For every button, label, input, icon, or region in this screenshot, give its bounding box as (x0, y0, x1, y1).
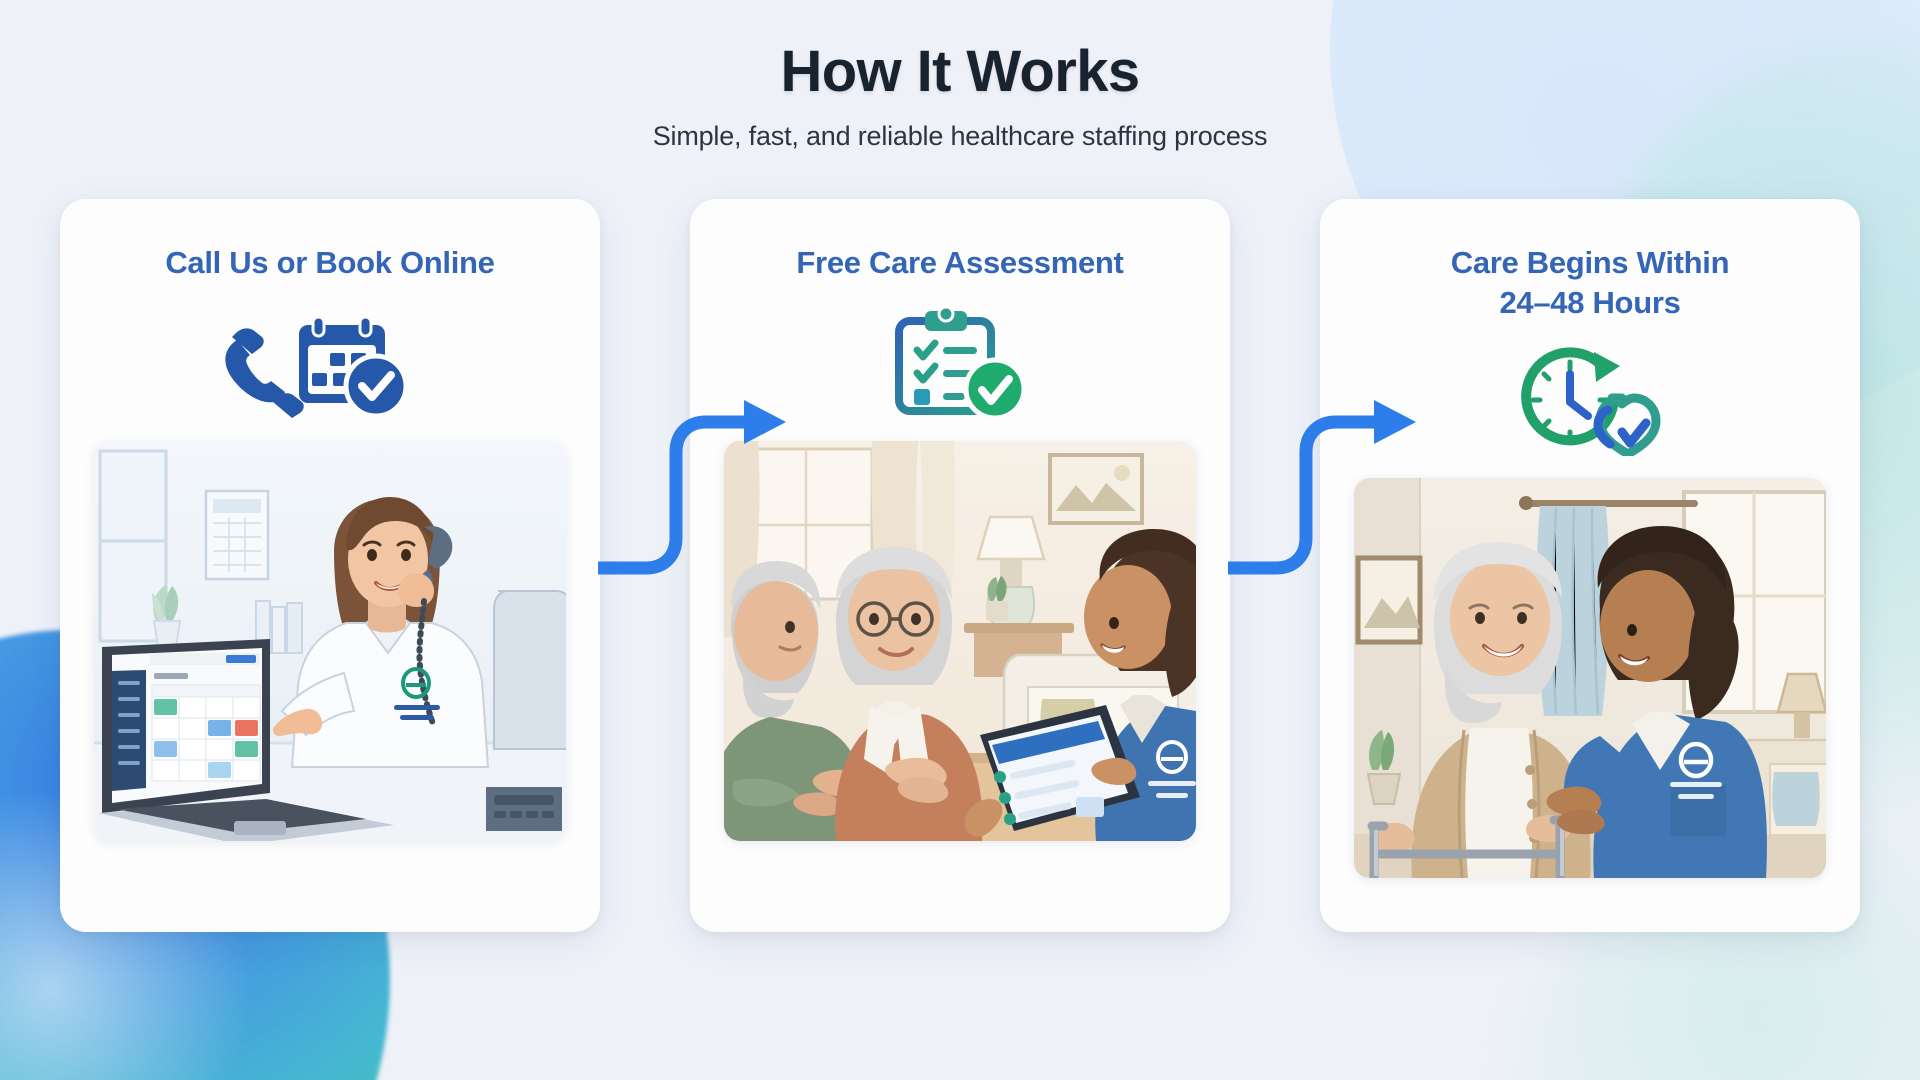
step-3-title-line-1: Care Begins Within (1451, 245, 1730, 280)
page-subtitle: Simple, fast, and reliable healthcare st… (0, 121, 1920, 152)
steps-row: Call Us or Book Online (0, 199, 1920, 932)
page-title: How It Works (0, 42, 1920, 103)
phone-calendar-check-icon (215, 307, 445, 419)
receptionist-on-phone-with-laptop-photo (94, 441, 566, 841)
step-2-title: Free Care Assessment (796, 243, 1123, 285)
page-header: How It Works Simple, fast, and reliable … (0, 0, 1920, 152)
step-3-title-line-2: 24–48 Hours (1451, 283, 1730, 323)
clock-arrow-heart-check-icon (1510, 344, 1670, 456)
step-3-title: Care Begins Within 24–48 Hours (1451, 243, 1730, 322)
clipboard-checklist-check-icon (885, 307, 1035, 419)
step-2-to-step-3-arrow (1228, 390, 1428, 595)
step-card-1[interactable]: Call Us or Book Online (60, 199, 600, 932)
step-1-to-step-2-arrow (598, 390, 798, 595)
step-1-title: Call Us or Book Online (165, 243, 494, 285)
